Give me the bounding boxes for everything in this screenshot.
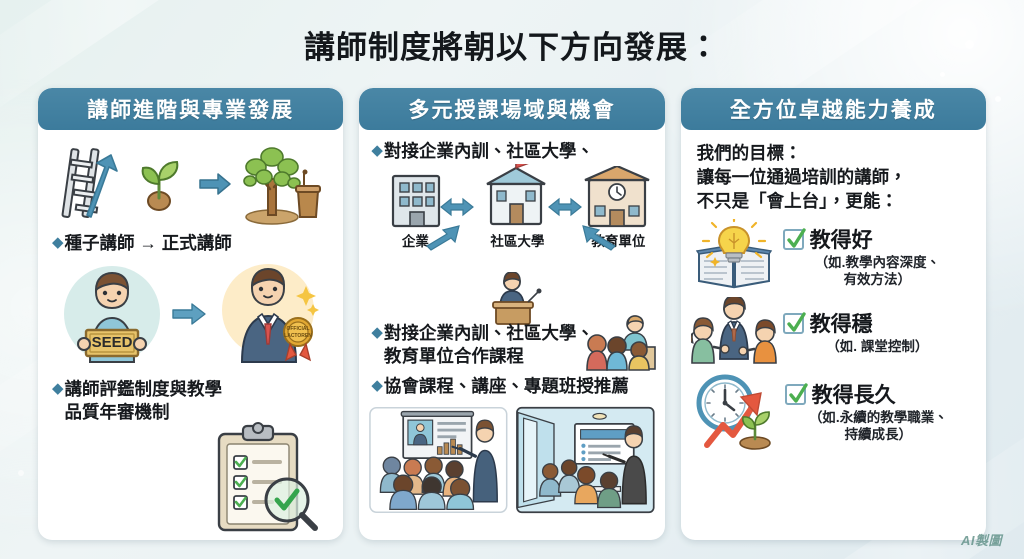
competency-item-teach-long-term: 教得長久 （如.永續的教學職業、 持續成長） [691,371,976,451]
competency-head: 教得長久 [785,379,976,409]
diamond-bullet-icon: ◆ [371,140,383,162]
bullet-corporate-training-2: ◆ 對接企業內訓、社區大學、 教育單位合作課程 [371,322,654,367]
arrow-right-icon [198,171,232,197]
lightbulb-book-icon [693,219,775,293]
competency-head: 教得好 [783,224,976,254]
checkbox-teach-long-term[interactable] [785,384,806,405]
goal-line-2: 讓每一位通過培訓的講師， [697,166,976,190]
seed-trainee-icon: SEED [60,262,164,366]
bullet-corporate-training-1: ◆ 對接企業內訓、社區大學、 [371,140,654,162]
background-dot [18,470,24,476]
note-line-1: （如.教學內容深度、 [815,255,940,270]
card-teaching-venues: 多元授課場域與機會 ◆ 對接企業內訓、社區大學、 [359,88,664,540]
handshake-mentor-icon [691,297,777,367]
competency-item-teach-steady: 教得穩 （如. 課堂控制） [691,297,976,367]
watermark: AI製圖 [961,530,1002,549]
goal-statement: 我們的目標： 讓每一位通過培訓的講師， 不只是「會上台」，更能： [697,142,976,213]
clock-growth-icon [691,371,779,451]
icon-wrap [691,297,777,367]
bullet-text: 對接企業內訓、社區大學、 [384,140,655,162]
competency-note: （如.教學內容深度、 有效方法） [783,255,976,289]
bullet-text-line1: 對接企業內訓、社區大學、 [384,323,594,343]
diamond-bullet-icon: ◆ [52,232,64,254]
lecturer-podium-row [369,272,654,318]
venues-diagram: 企業 社區大學 教育單位 [369,164,654,272]
diamond-bullet-icon: ◆ [371,322,383,344]
ladder-growth-icon [59,145,121,223]
growth-icons-row [48,138,333,230]
meeting-room-photo [516,404,655,516]
bullet-text-line1: 講師評鑑制度與教學 [65,379,223,399]
competency-note: （如.永續的教學職業、 持續成長） [785,410,976,444]
note-line-1: （如. 課堂控制） [826,339,928,354]
card-body-3: 我們的目標： 讓每一位通過培訓的講師， 不只是「會上台」，更能： [681,130,986,540]
audience-group-icon [583,314,657,372]
bullet-evaluation-system: ◆ 講師評鑑制度與教學 品質年審機制 [52,378,333,423]
card-body-2: ◆ 對接企業內訓、社區大學、 [359,130,664,540]
card-instructor-advancement: 講師進階與專業發展 [38,88,343,540]
classroom-presentation-photo [369,404,508,516]
competency-text: 教得長久 （如.永續的教學職業、 持續成長） [785,379,976,444]
background-dot [995,96,1001,102]
competency-text: 教得穩 （如. 課堂控制） [783,308,976,356]
bullet-text: 協會課程、講座、專題班授推薦 [384,375,655,397]
competency-item-teach-well: 教得好 （如.教學內容深度、 有效方法） [691,219,976,293]
competency-note: （如. 課堂控制） [783,339,976,356]
clipboard-checklist-icon [205,422,321,534]
note-line-2: 持續成長） [845,427,913,442]
icon-wrap [691,219,777,293]
columns-container: 講師進階與專業發展 [38,88,986,540]
badge-text-official: OFFICIAL [286,326,309,332]
bidirectional-arrow-icon [369,164,664,272]
competency-text: 教得好 （如.教學內容深度、 有效方法） [783,224,976,289]
card-competency-development: 全方位卓越能力養成 我們的目標： 讓每一位通過培訓的講師， 不只是「會上台」，更… [681,88,986,540]
tree-podium-icon [242,143,322,225]
card-header-1: 講師進階與專業發展 [38,88,343,130]
arrow-right-icon [171,301,207,327]
bullet-association-courses: ◆ 協會課程、講座、專題班授推薦 [371,375,654,397]
competency-label: 教得好 [810,224,873,254]
background-dot [940,72,945,77]
trainee-to-certified-row: SEED [48,258,333,370]
note-line-1: （如.永續的教學職業、 [809,410,948,425]
sprout-icon [131,154,187,214]
goal-line-3: 不只是「會上台」，更能： [697,190,976,214]
card-body-1: ◆ 種子講師 → 正式講師 SEED [38,130,343,540]
diamond-bullet-icon: ◆ [52,378,64,400]
competency-label: 教得穩 [810,308,873,338]
goal-line-1: 我們的目標： [697,142,976,166]
icon-wrap [691,371,779,451]
note-line-2: 有效方法） [844,272,912,287]
certified-instructor-icon: OFFICIAL LACTOREN [214,262,322,366]
checkbox-teach-well[interactable] [783,229,804,250]
checkbox-teach-steady[interactable] [783,313,804,334]
bullet-text-line2: 教育單位合作課程 [384,346,524,366]
classroom-photos [369,404,654,516]
bullet-text-line2: 品質年審機制 [65,402,170,422]
page-title: 講師制度將朝以下方向發展： [0,22,1024,67]
bullet-text: 種子講師 → 正式講師 [65,232,334,254]
diamond-bullet-icon: ◆ [371,375,383,397]
lecturer-podium-icon [476,272,548,326]
bullet-seed-to-formal: ◆ 種子講師 → 正式講師 [52,232,333,254]
card-header-3: 全方位卓越能力養成 [681,88,986,130]
competency-label: 教得長久 [812,379,896,409]
competency-head: 教得穩 [783,308,976,338]
badge-text-lactoren: LACTOREN [284,333,312,339]
seed-sign-text: SEED [91,334,132,351]
card-header-2: 多元授課場域與機會 [359,88,664,130]
